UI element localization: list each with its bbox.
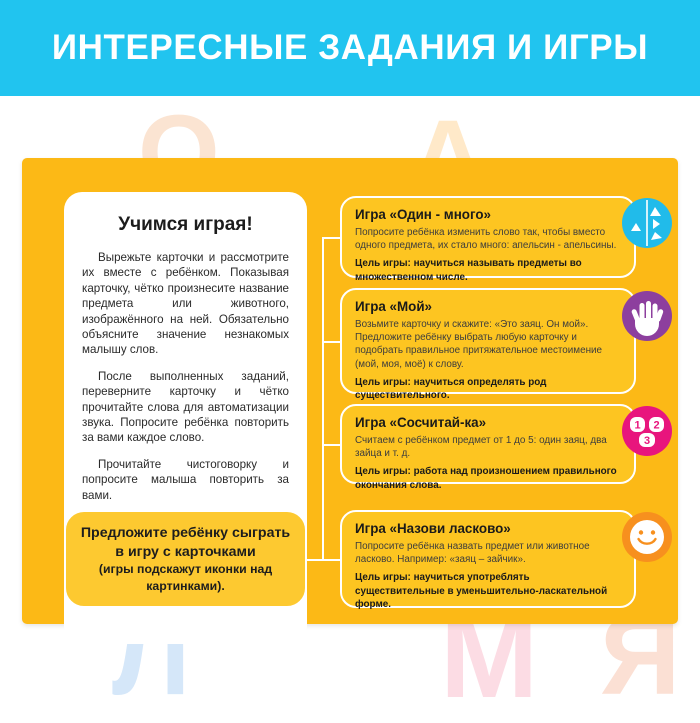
instructions-paragraph-3: Прочитайте чистоговорку и попросите малы… [82,457,289,503]
game-card-nazovi-laskovo[interactable]: Игра «Назови ласково» Попросите ребёнка … [340,510,636,608]
icon-number-3: 3 [644,435,650,447]
game-description: Попросите ребёнка назвать предмет или жи… [355,540,621,566]
game-title: Игра «Сосчитай-ка» [355,415,621,430]
connector-branch-1 [322,237,340,239]
smiley-face-icon [622,512,672,562]
game-card-odin-mnogo[interactable]: Игра «Один - много» Попросите ребёнка из… [340,196,636,278]
page-title: ИНТЕРЕСНЫЕ ЗАДАНИЯ И ИГРЫ [52,28,648,68]
game-card-soschitay-ka[interactable]: Игра «Сосчитай-ка» Считаем с ребёнком пр… [340,404,636,484]
triangles-split-circle-icon [622,198,672,248]
connector-branch-3 [322,444,340,446]
game-description: Считаем с ребёнком предмет от 1 до 5: од… [355,434,621,460]
game-goal: Цель игры: научиться определять род суще… [355,376,621,402]
numbers-123-icon: 1 2 3 [622,406,672,456]
page-header: ИНТЕРЕСНЫЕ ЗАДАНИЯ И ИГРЫ [0,0,700,96]
connector-vertical-main [322,237,324,526]
connector-branch-4 [307,559,340,561]
game-title: Игра «Один - много» [355,207,621,222]
game-description: Попросите ребёнка изменить слово так, чт… [355,226,621,252]
call-to-action-main: Предложите ребёнку сыграть в игру с карт… [80,524,291,561]
instructions-paragraph-1: Вырежьте карточки и рассмотрите их вмест… [82,250,289,358]
icon-number-2: 2 [653,420,659,432]
game-goal: Цель игры: научиться употреблять существ… [355,571,621,611]
game-title: Игра «Назови ласково» [355,521,621,536]
hand-icon [622,291,672,341]
icon-number-1: 1 [634,420,640,432]
connector-branch-2 [322,341,340,343]
game-description: Возьмите карточку и скажите: «Это заяц. … [355,318,621,371]
game-card-moy[interactable]: Игра «Мой» Возьмите карточку и скажите: … [340,288,636,394]
instructions-paragraph-2: После выполненных заданий, переверните к… [82,369,289,446]
connector-vertical-lower [322,526,324,559]
call-to-action-sub: (игры подскажут иконки над картинками). [80,561,291,594]
game-title: Игра «Мой» [355,299,621,314]
call-to-action-box: Предложите ребёнку сыграть в игру с карт… [64,510,307,608]
game-goal: Цель игры: научиться называть предметы в… [355,257,621,283]
content-board: Учимся играя! Вырежьте карточки и рассмо… [22,158,678,624]
instructions-title: Учимся играя! [82,214,289,236]
game-goal: Цель игры: работа над произношением прав… [355,465,621,491]
